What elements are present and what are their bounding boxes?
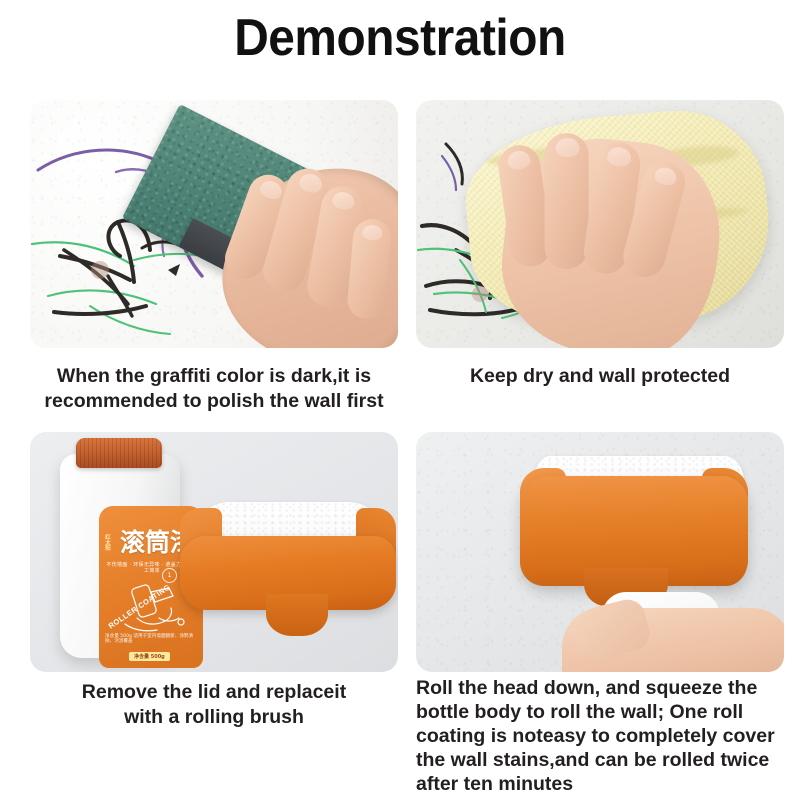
fingernail <box>556 138 580 157</box>
fingernail <box>506 150 531 171</box>
roller-stem <box>266 594 328 636</box>
cap-ridges <box>76 438 162 468</box>
caption-line: Roll the head down, and squeeze the <box>416 676 790 700</box>
label-weight-badge: 净含量 500g <box>129 652 170 661</box>
finger <box>346 218 393 321</box>
finger <box>545 133 589 269</box>
step-1-caption: When the graffiti color is dark,it is re… <box>14 364 414 414</box>
caption-line: coating is noteasy to completely cover <box>416 724 790 748</box>
step-4-caption: Roll the head down, and squeeze the bott… <box>416 676 790 796</box>
caption-line: with a rolling brush <box>14 705 414 730</box>
step-1-image: QBTAOOG S 21 <box>30 100 398 348</box>
caption-line: after ten minutes <box>416 772 790 796</box>
roller-brush-head <box>180 502 396 652</box>
fingernail <box>331 190 356 211</box>
caption-line: the wall stains,and can be rolled twice <box>416 748 790 772</box>
fingernail <box>258 178 284 201</box>
step-3-image: 红太阳 滚筒漆 不伤墙面 · 环保无异味 · 遮盖力强 · 施工简单 ROLLE… <box>30 432 398 672</box>
fingernail <box>606 146 632 168</box>
caption-line: bottle body to roll the wall; One roll <box>416 700 790 724</box>
paint-bottle: 红太阳 滚筒漆 不伤墙面 · 环保无异味 · 遮盖力强 · 施工简单 ROLLE… <box>60 454 180 658</box>
fingernail <box>653 165 679 187</box>
caption-line: Keep dry and wall protected <box>400 364 800 389</box>
bottle-cap <box>76 438 162 468</box>
step-2-caption: Keep dry and wall protected <box>400 364 800 389</box>
step-2-image <box>416 100 784 348</box>
caption-line: When the graffiti color is dark,it is <box>14 364 414 389</box>
demonstration-page: Demonstration <box>0 0 800 800</box>
label-badge-1: 1 <box>162 568 177 583</box>
step-4-image <box>416 432 784 672</box>
caption-line: Remove the lid and replaceit <box>14 680 414 705</box>
step-3-caption: Remove the lid and replaceit with a roll… <box>14 680 414 730</box>
caption-line: recommended to polish the wall first <box>14 389 414 414</box>
label-side-text: 红太阳 <box>104 534 110 551</box>
fingernail <box>362 224 383 241</box>
fingernail <box>297 171 324 195</box>
page-title: Demonstration <box>32 8 768 68</box>
